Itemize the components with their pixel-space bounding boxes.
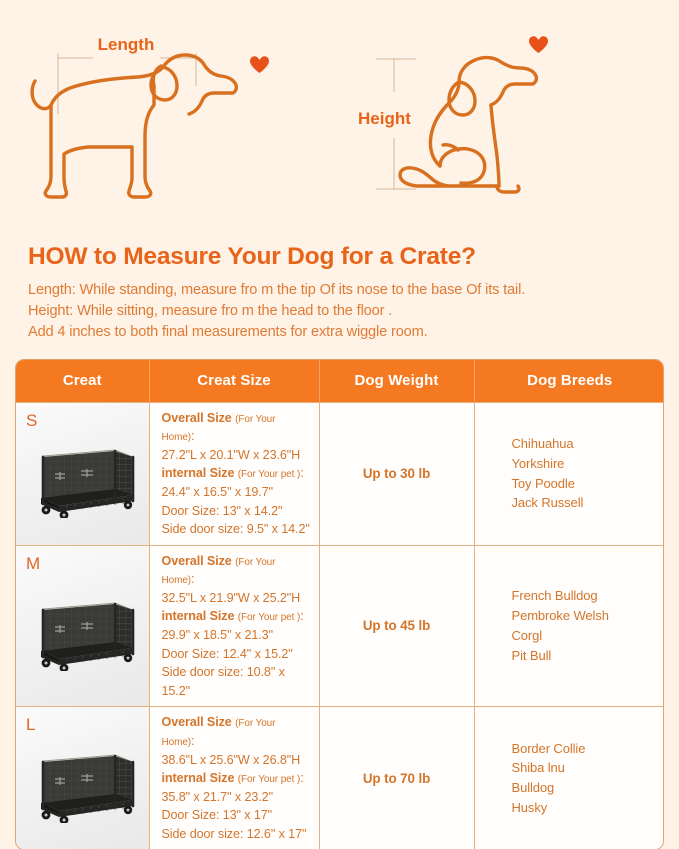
side-door-size-value: Side door size: 12.6" x 17" xyxy=(162,825,311,844)
overall-size-value: 27.2"L x 20.1"W x 23.6"H xyxy=(162,446,311,465)
length-caption: Length xyxy=(98,35,155,54)
heart-icon xyxy=(250,56,269,73)
crate-size-label: M xyxy=(26,554,40,574)
table-header-row: Creat Creat Size Dog Weight Dog Breeds xyxy=(16,360,664,402)
dog-breed-item: French Bulldog xyxy=(512,586,665,606)
dog-crate-size-guide: Length Height xyxy=(0,0,679,849)
overall-size-label: Overall Size xyxy=(162,554,232,568)
dog-breeds-cell: Border CollieShiba lnuBulldogHusky xyxy=(474,707,664,849)
dog-breed-item: Jack Russell xyxy=(512,493,665,513)
crate-image-cell: L xyxy=(16,707,149,849)
dog-breed-item: Chihuahua xyxy=(512,434,665,454)
door-size-value: Door Size: 12.4" x 15.2" xyxy=(162,645,311,664)
crate-image-cell: M xyxy=(16,545,149,707)
dog-breed-item: Pit Bull xyxy=(512,646,665,666)
side-door-size-value: Side door size: 10.8" x 15.2" xyxy=(162,663,311,700)
instruction-line-1: Length: While standing, measure fro m th… xyxy=(28,280,653,301)
overall-size-value: 38.6"L x 25.6"W x 26.8"H xyxy=(162,751,311,770)
dog-weight-cell: Up to 30 lb xyxy=(319,402,474,545)
dog-breeds-cell: ChihuahuaYorkshireToy PoodleJack Russell xyxy=(474,402,664,545)
headline-block: HOW to Measure Your Dog for a Crate? Len… xyxy=(28,243,653,342)
page-title: HOW to Measure Your Dog for a Crate? xyxy=(28,243,653,271)
table-body: SOverall Size (For Your Home):27.2"L x 2… xyxy=(16,402,664,849)
overall-size-value: 32.5"L x 21.9"W x 25.2"H xyxy=(162,589,311,608)
side-door-size-value: Side door size: 9.5" x 14.2" xyxy=(162,520,311,539)
length-illustration: Length xyxy=(0,0,340,228)
heart-icon xyxy=(529,36,548,53)
internal-size-note: (For Your pet ) xyxy=(238,469,300,480)
dog-breeds-cell: French BulldogPembroke WelshCorglPit Bul… xyxy=(474,545,664,707)
dog-breed-item: Husky xyxy=(512,798,665,818)
crate-size-label: L xyxy=(26,715,35,735)
crate-size-cell: Overall Size (For Your Home):32.5"L x 21… xyxy=(149,545,319,707)
dog-breed-item: Bulldog xyxy=(512,778,665,798)
internal-size-label: internal Size xyxy=(162,609,235,623)
illustration-band: Length Height xyxy=(0,0,679,228)
table-row: SOverall Size (For Your Home):27.2"L x 2… xyxy=(16,402,664,545)
crate-size-cell: Overall Size (For Your Home):38.6"L x 25… xyxy=(149,707,319,849)
dog-breed-item: Corgl xyxy=(512,626,665,646)
dog-breed-item: Toy Poodle xyxy=(512,474,665,494)
instruction-line-3: Add 4 inches to both final measurements … xyxy=(28,322,653,343)
internal-size-value: 29.9" x 18.5" x 21.3" xyxy=(162,626,311,645)
crate-image-cell: S xyxy=(16,402,149,545)
internal-size-note: (For Your pet ) xyxy=(238,612,300,623)
table-row: MOverall Size (For Your Home):32.5"L x 2… xyxy=(16,545,664,707)
dog-breed-item: Shiba lnu xyxy=(512,758,665,778)
internal-size-label: internal Size xyxy=(162,771,235,785)
internal-size-label: internal Size xyxy=(162,466,235,480)
door-size-value: Door Size: 13" x 14.2" xyxy=(162,502,311,521)
internal-size-value: 24.4" x 16.5" x 19.7" xyxy=(162,483,311,502)
internal-size-value: 35.8" x 21.7" x 23.2" xyxy=(162,788,311,807)
column-header-dog-weight: Dog Weight xyxy=(319,360,474,402)
overall-size-label: Overall Size xyxy=(162,715,232,729)
height-caption: Height xyxy=(358,109,411,128)
table-row: LOverall Size (For Your Home):38.6"L x 2… xyxy=(16,707,664,849)
dog-breed-item: Yorkshire xyxy=(512,454,665,474)
column-header-dog-breeds: Dog Breeds xyxy=(474,360,664,402)
crate-spec-table: Creat Creat Size Dog Weight Dog Breeds xyxy=(15,359,664,849)
dog-weight-cell: Up to 70 lb xyxy=(319,707,474,849)
crate-photo xyxy=(16,707,149,849)
crate-size-label: S xyxy=(26,411,37,431)
crate-size-cell: Overall Size (For Your Home):27.2"L x 20… xyxy=(149,402,319,545)
dog-breed-item: Border Collie xyxy=(512,739,665,759)
dog-breed-item: Pembroke Welsh xyxy=(512,606,665,626)
internal-size-note: (For Your pet ) xyxy=(238,774,300,785)
door-size-value: Door Size: 13" x 17" xyxy=(162,806,311,825)
overall-size-label: Overall Size xyxy=(162,411,232,425)
height-illustration: Height xyxy=(340,0,679,228)
instruction-line-2: Height: While sitting, measure fro m the… xyxy=(28,301,653,322)
column-header-creat-size: Creat Size xyxy=(149,360,319,402)
column-header-creat: Creat xyxy=(16,360,149,402)
dog-weight-cell: Up to 45 lb xyxy=(319,545,474,707)
